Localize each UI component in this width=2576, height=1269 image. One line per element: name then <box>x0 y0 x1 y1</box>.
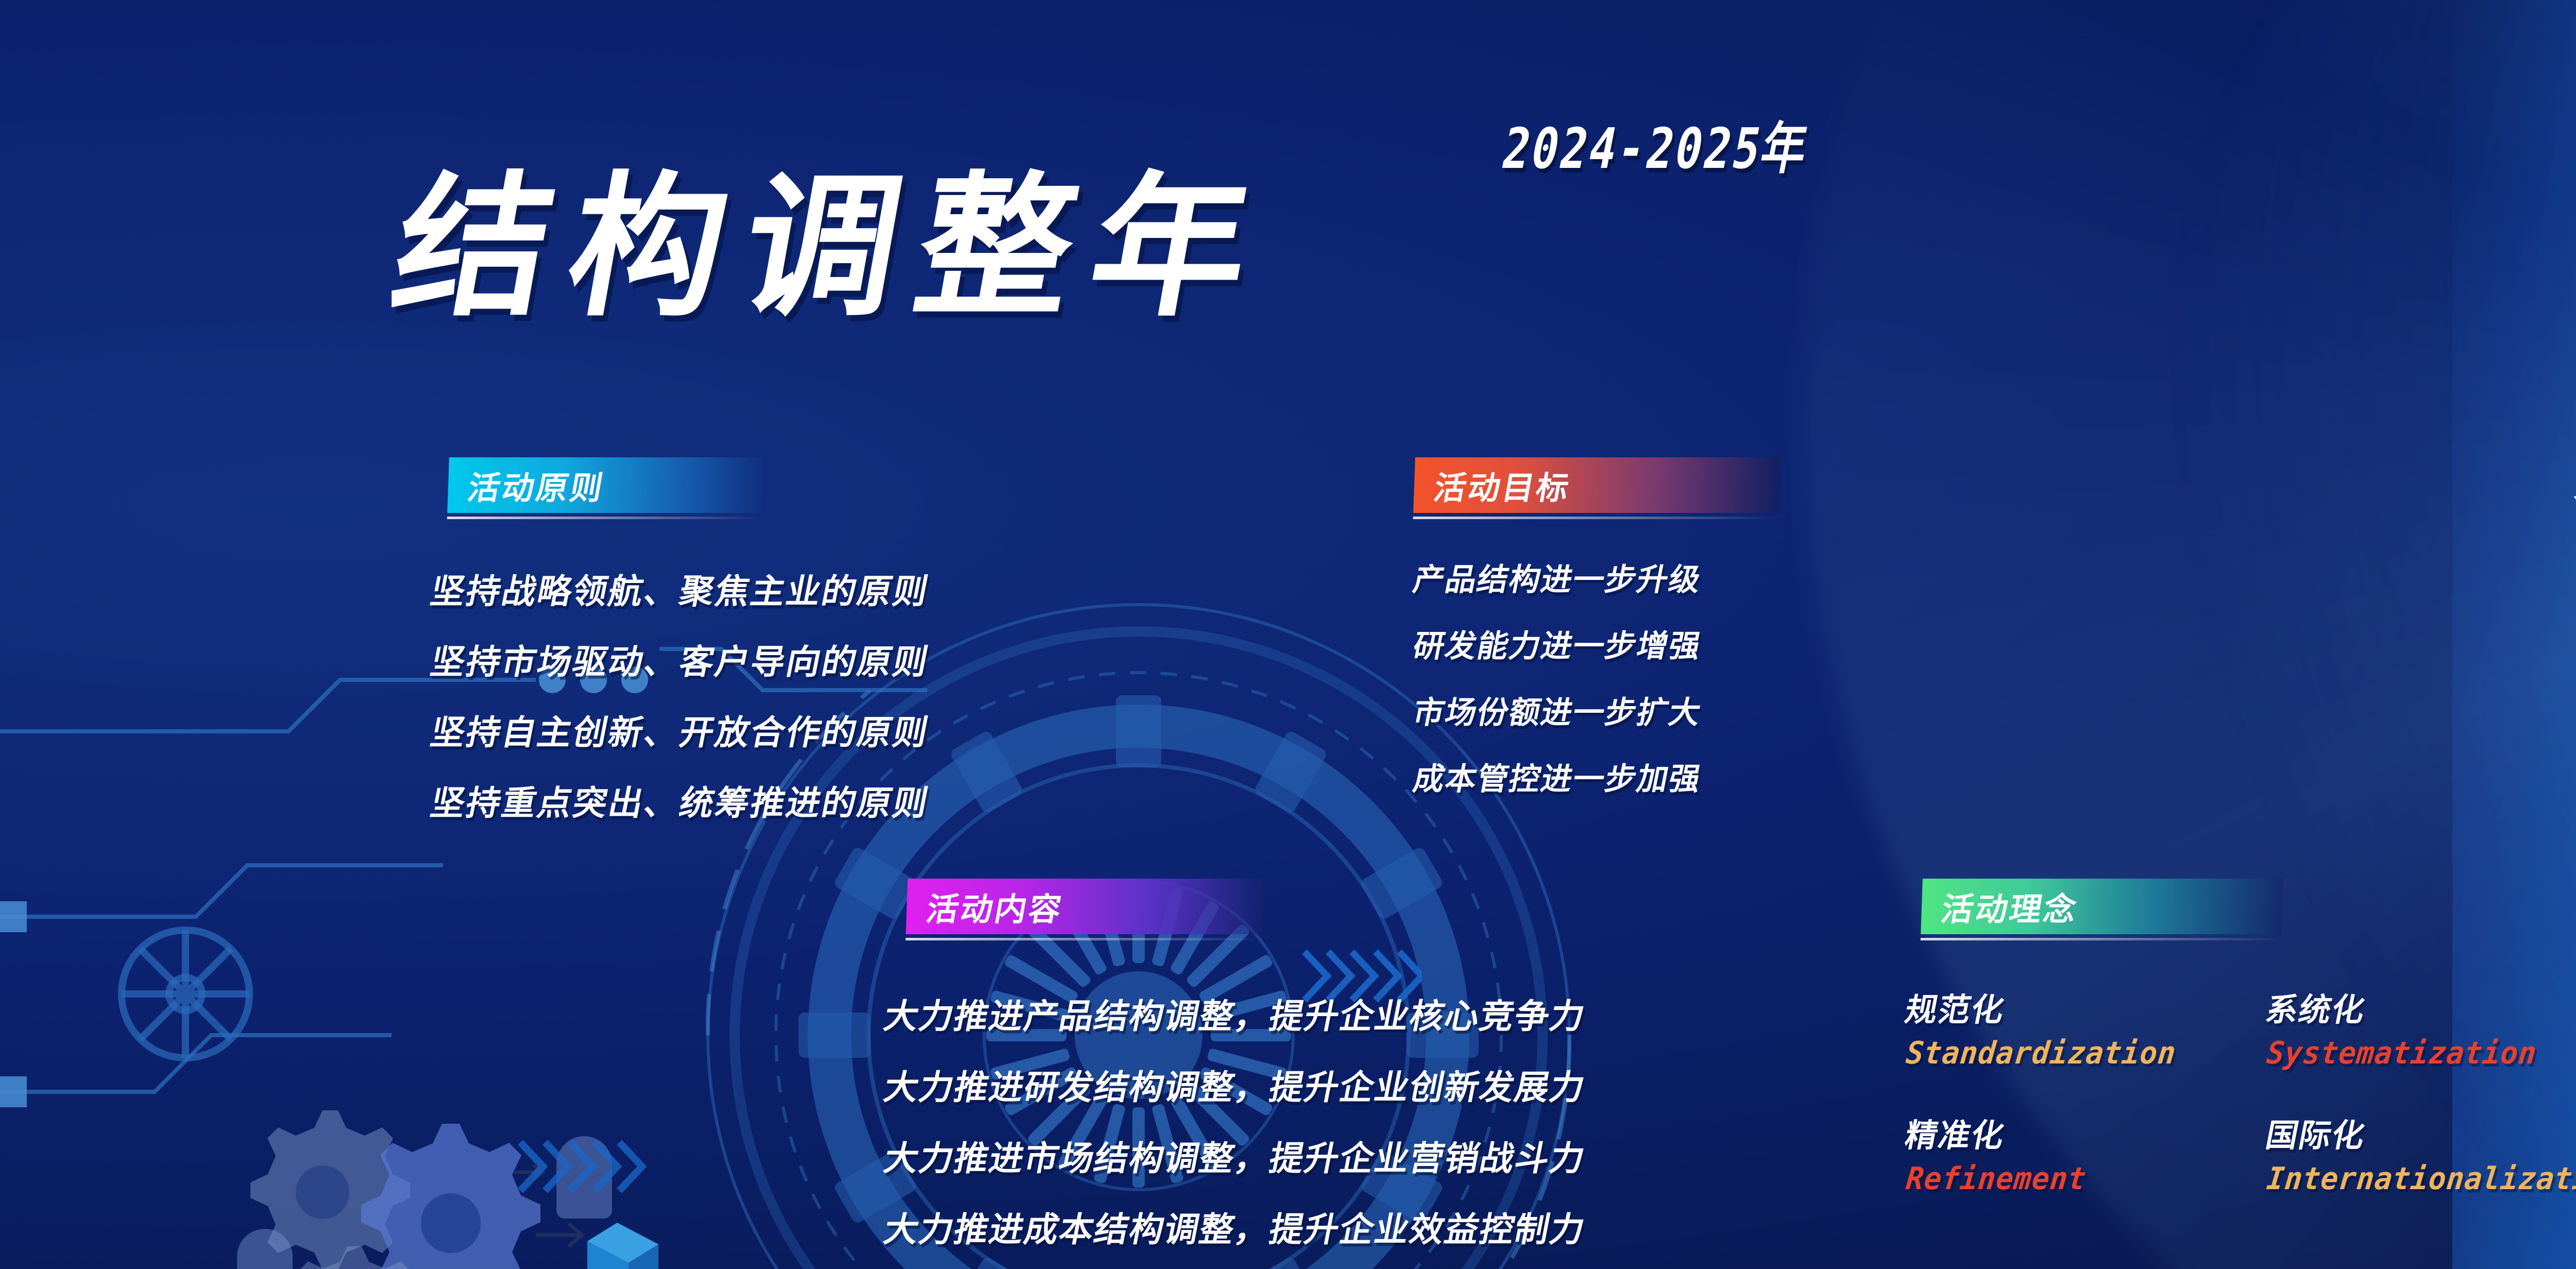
chevron-arrows-secondary-icon <box>515 1133 649 1200</box>
idea-cell: 系统化 Systematization <box>2267 984 2576 1071</box>
badge-content-label: 活动内容 <box>923 883 1067 930</box>
idea-en-label: Standardization <box>1904 1035 2247 1071</box>
page-title: 结构调整年 <box>383 170 1281 324</box>
list-item: 坚持市场驱动、客户导向的原则 <box>427 634 935 684</box>
badge-content: 活动内容 <box>906 879 1263 934</box>
badge-goal-label: 活动目标 <box>1431 462 1575 508</box>
list-item: 研发能力进一步增强 <box>1410 621 1706 666</box>
list-item: 坚持重点突出、统筹推进的原则 <box>427 776 935 825</box>
badge-principle: 活动原则 <box>447 457 765 513</box>
list-item: 坚持自主创新、开放合作的原则 <box>427 705 935 754</box>
idea-cell: 规范化 Standardization <box>1906 984 2267 1071</box>
principle-list: 坚持战略领航、聚焦主业的原则 坚持市场驱动、客户导向的原则 坚持自主创新、开放合… <box>432 564 929 846</box>
list-item: 大力推进成本结构调整，提升企业效益控制力 <box>880 1202 1591 1251</box>
badge-idea: 活动理念 <box>1921 879 2283 934</box>
idea-en-label: Refinement <box>1904 1161 2247 1197</box>
idea-en-label: Systematization <box>2265 1035 2576 1071</box>
badge-goal: 活动目标 <box>1413 457 1781 513</box>
badge-idea-label: 活动理念 <box>1938 883 2082 930</box>
list-item: 大力推进产品结构调整，提升企业核心竞争力 <box>880 989 1591 1038</box>
idea-cell: 国际化 Internationalization <box>2267 1109 2576 1197</box>
idea-en-label: Internationalization <box>2265 1161 2576 1197</box>
idea-cn-label: 国际化 <box>2262 1109 2576 1156</box>
idea-cell: 精准化 Refinement <box>1906 1109 2267 1197</box>
goal-list: 产品结构进一步升级 研发能力进一步增强 市场份额进一步扩大 成本管控进一步加强 <box>1414 555 1702 820</box>
year-label: 2024-2025年 <box>1497 103 1818 184</box>
list-item: 成本管控进一步加强 <box>1410 754 1706 799</box>
idea-grid: 规范化 Standardization 系统化 Systematization … <box>1906 984 2576 1197</box>
list-item: 产品结构进一步升级 <box>1410 555 1706 599</box>
list-item: 市场份额进一步扩大 <box>1410 688 1706 732</box>
banner-poster: 2024-2025年 结构调整年 活动原则 坚持战略领航、聚焦主业的原则 坚持市… <box>0 0 2576 1269</box>
list-item: 大力推进市场结构调整，提升企业营销战斗力 <box>880 1131 1591 1180</box>
list-item: 大力推进研发结构调整，提升企业创新发展力 <box>880 1060 1591 1109</box>
idea-cn-label: 精准化 <box>1902 1109 2271 1156</box>
content-list: 大力推进产品结构调整，提升企业核心竞争力 大力推进研发结构调整，提升企业创新发展… <box>885 989 1586 1269</box>
badge-principle-label: 活动原则 <box>465 462 609 508</box>
idea-cn-label: 系统化 <box>2262 984 2576 1030</box>
list-item: 坚持战略领航、聚焦主业的原则 <box>427 564 935 613</box>
idea-cn-label: 规范化 <box>1902 984 2271 1030</box>
